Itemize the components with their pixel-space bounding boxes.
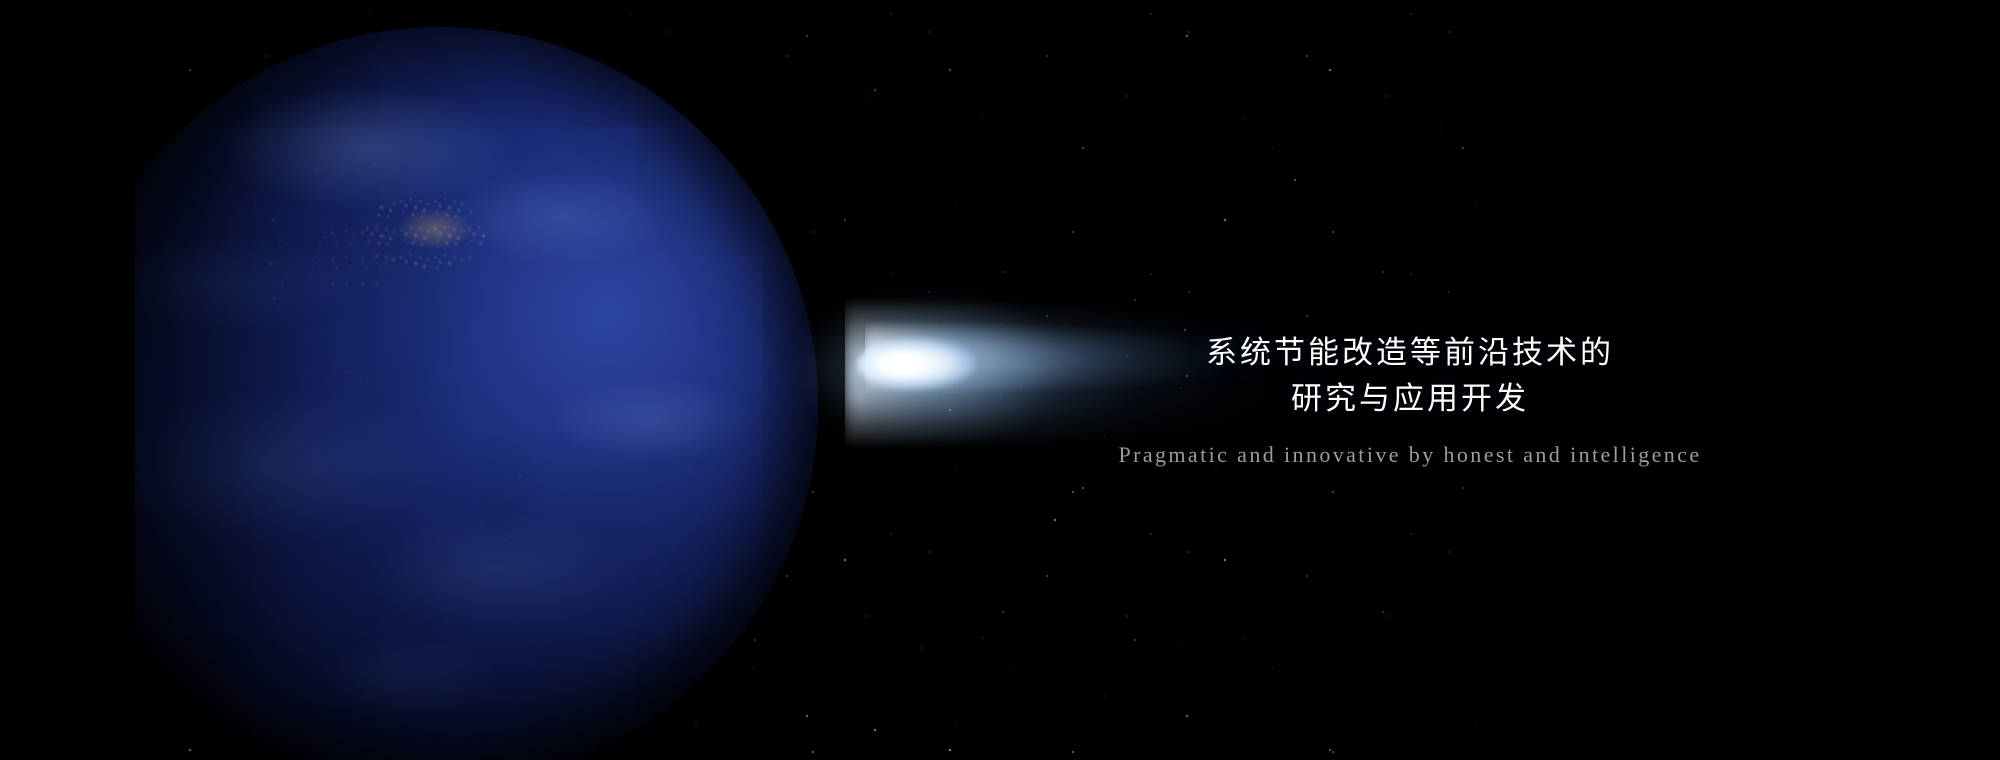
hero-tagline: Pragmatic and innovative by honest and i…	[1040, 440, 1780, 470]
hero-headline-line-1: 系统节能改造等前沿技术的	[1206, 335, 1614, 370]
hero-headline: 系统节能改造等前沿技术的 研究与应用开发	[1040, 330, 1780, 422]
comet-head-glow	[857, 338, 975, 390]
hero-banner: 系统节能改造等前沿技术的 研究与应用开发 Pragmatic and innov…	[0, 0, 2000, 760]
comet-outer-glow	[805, 302, 1055, 432]
comet-core	[877, 350, 933, 378]
earth-globe	[135, 27, 818, 760]
hero-headline-line-2: 研究与应用开发	[1040, 376, 1780, 422]
hero-copy-block: 系统节能改造等前沿技术的 研究与应用开发 Pragmatic and innov…	[1040, 330, 1780, 470]
